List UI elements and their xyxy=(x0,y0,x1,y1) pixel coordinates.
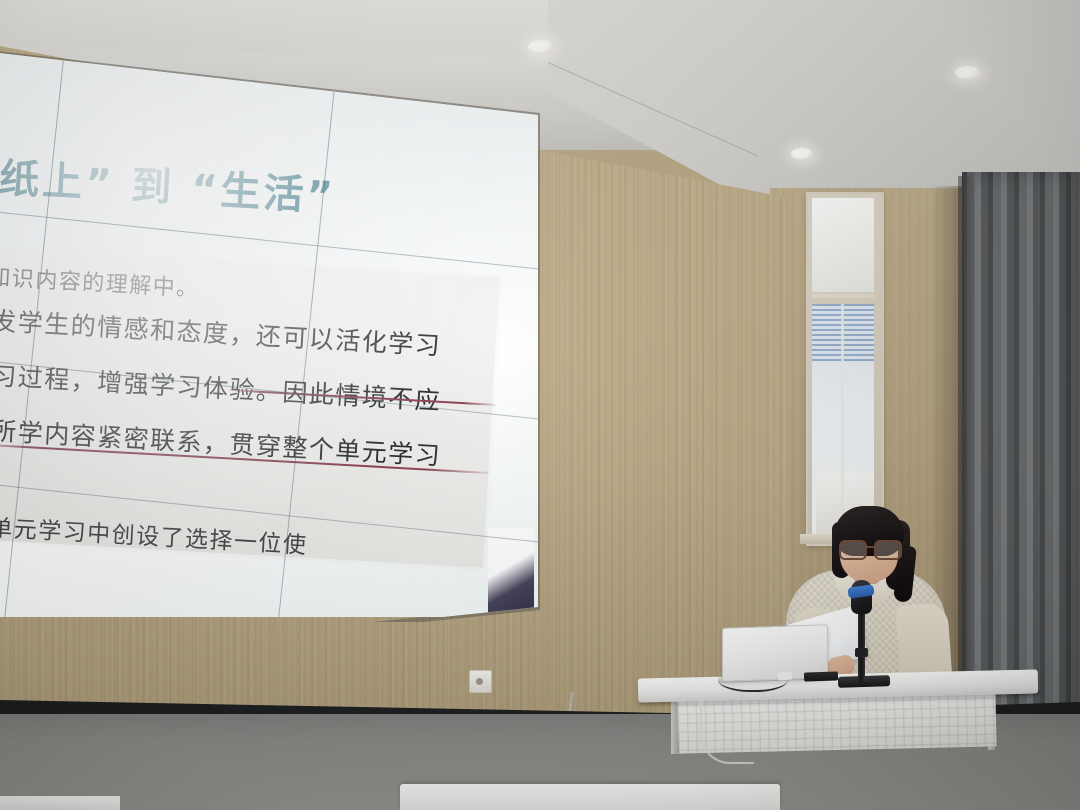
ceiling-downlight-icon xyxy=(955,66,981,80)
window-mullion-horizontal xyxy=(812,294,874,298)
classroom-scene: “纸上” 到 “生活” …知识内容的理解中。 激发学生的情感和态度，还可以活化学… xyxy=(0,0,1080,810)
eyeglasses-icon xyxy=(838,540,900,556)
laptop-cable xyxy=(718,664,788,692)
desk-cable xyxy=(700,700,754,764)
microphone-joint xyxy=(855,648,868,657)
usb-hub xyxy=(804,671,838,681)
ceiling-downlight-icon xyxy=(791,148,813,160)
eyeglass-lens-right xyxy=(874,540,902,560)
window-frame xyxy=(806,192,884,546)
outlet-socket-icon xyxy=(476,678,483,685)
window-upper-pane xyxy=(812,198,874,292)
microphone-stem xyxy=(858,610,865,682)
presentation-screen[interactable]: “纸上” 到 “生活” …知识内容的理解中。 激发学生的情感和态度，还可以活化学… xyxy=(0,52,545,617)
foreground-table xyxy=(0,796,120,810)
eyeglass-lens-left xyxy=(839,540,867,560)
screen-glare xyxy=(0,52,545,617)
foreground-table xyxy=(400,784,780,810)
ceiling-downlight-icon xyxy=(528,40,554,54)
